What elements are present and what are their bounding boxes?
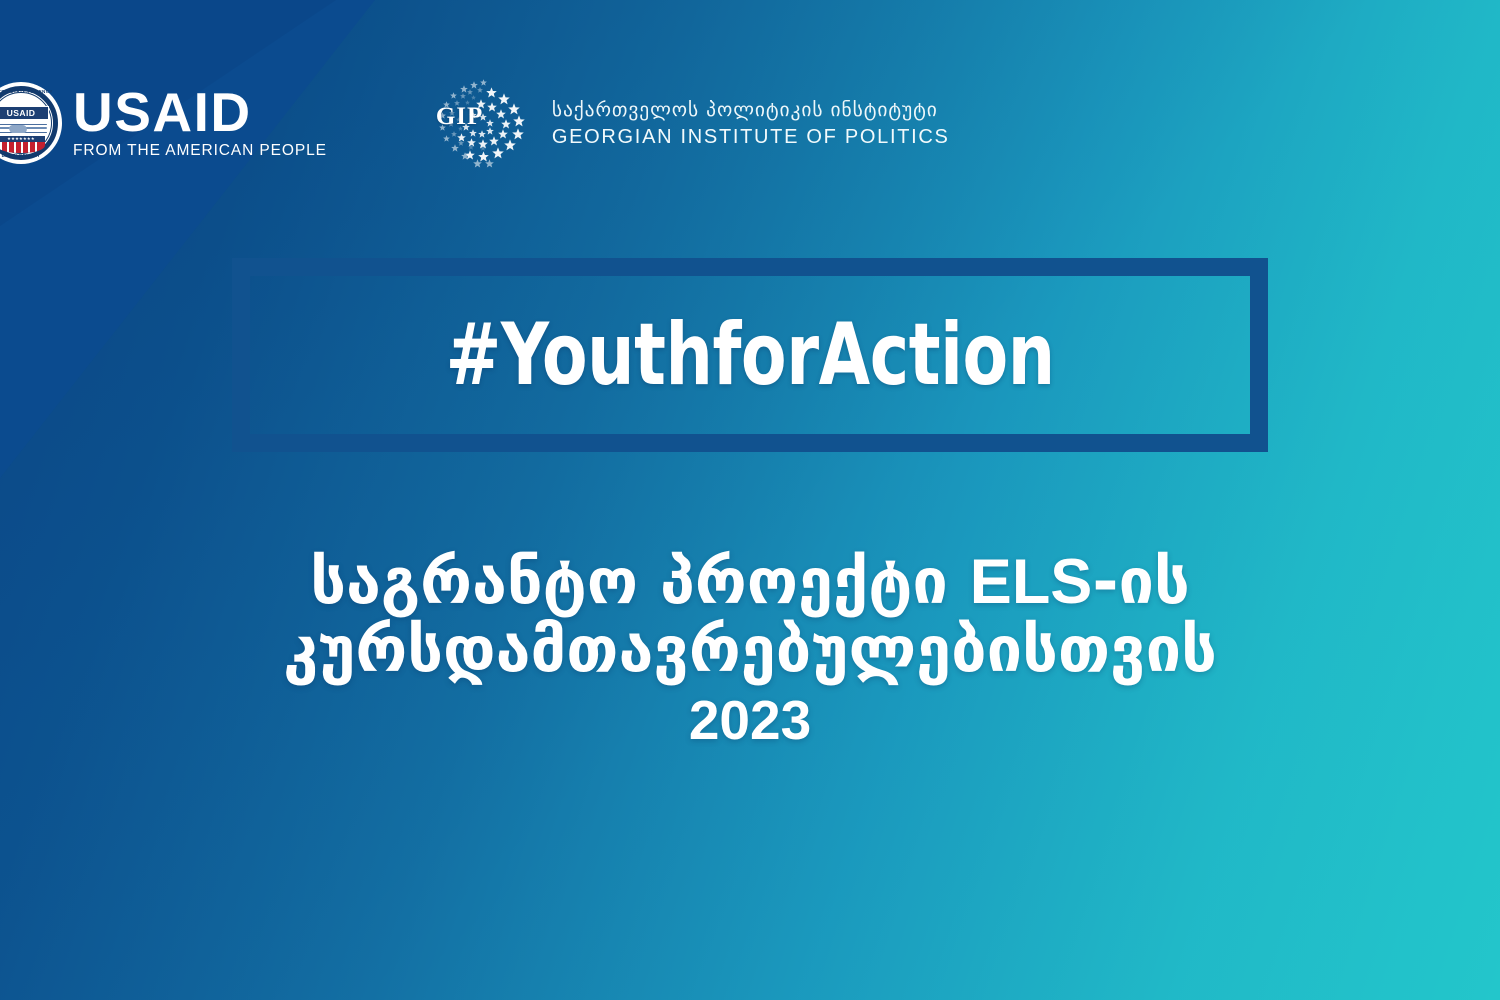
shield-icon: ★★★★★★★ [0, 136, 45, 153]
subtitle-line-2: კურსდამთავრებულებისთვის [0, 616, 1500, 684]
subtitle-block: საგრანტო პროექტი ELS-ის კურსდამთავრებულე… [0, 548, 1500, 751]
subtitle-line-1-pre: საგრანტო პროექტი [310, 545, 970, 618]
seal-banner: USAID [0, 106, 49, 120]
poster-canvas: UNITED STATES AGENCY INTERNATIONAL DEVEL… [0, 0, 1500, 1000]
handshake-icon [0, 123, 47, 135]
usaid-wordmark-text: USAID [73, 86, 327, 138]
hashtag-title: #YouthforAction [445, 305, 1054, 405]
hashtag-frame: #YouthforAction [232, 258, 1268, 452]
star-globe-icon: GIP [424, 67, 536, 179]
subtitle-line-1-acronym: ELS [970, 547, 1093, 617]
gip-name-block: საქართველოს პოლიტიკის ინსტიტუტი GEORGIAN… [552, 98, 950, 149]
usaid-wordmark: USAID FROM THE AMERICAN PEOPLE [73, 86, 327, 160]
seal-banner-text: USAID [7, 108, 36, 118]
subtitle-line-1: საგრანტო პროექტი ELS-ის [0, 548, 1500, 616]
usaid-seal-icon: UNITED STATES AGENCY INTERNATIONAL DEVEL… [0, 84, 60, 162]
gip-monogram: GIP [436, 103, 483, 131]
seal-arc-top-text: UNITED STATES AGENCY [0, 89, 60, 94]
gip-name-en: GEORGIAN INSTITUTE OF POLITICS [552, 126, 950, 149]
gip-name-ka: საქართველოს პოლიტიკის ინსტიტუტი [552, 98, 950, 121]
usaid-logo: UNITED STATES AGENCY INTERNATIONAL DEVEL… [0, 84, 327, 162]
subtitle-line-1-post: -ის [1092, 545, 1189, 618]
usaid-tagline: FROM THE AMERICAN PEOPLE [73, 142, 327, 160]
subtitle-year: 2023 [0, 690, 1500, 751]
logo-row: UNITED STATES AGENCY INTERNATIONAL DEVEL… [0, 58, 950, 188]
gip-logo: GIP საქართველოს პოლიტიკის ინსტიტუტი GEOR… [424, 67, 950, 179]
